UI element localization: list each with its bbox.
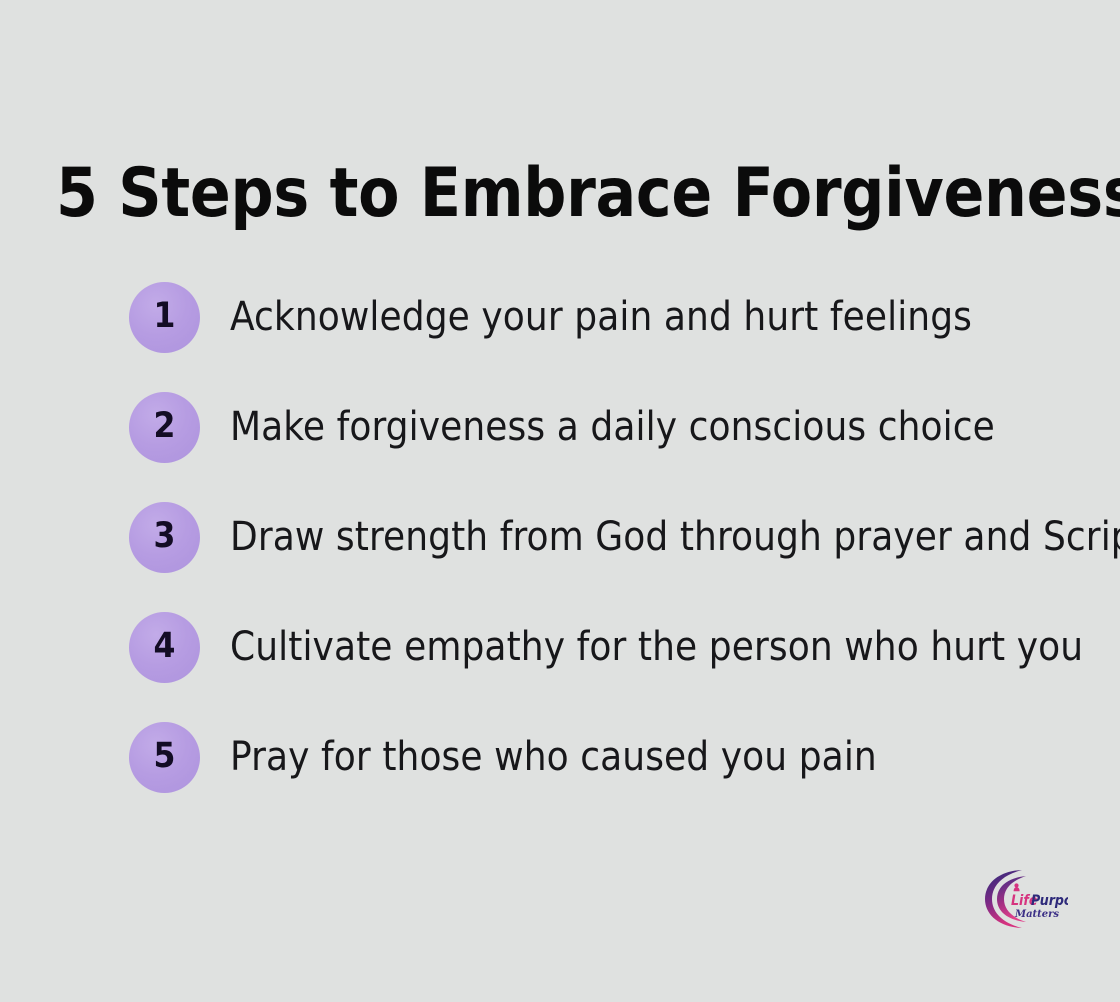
step-text-label: Acknowledge your pain and hurt feelings xyxy=(230,292,972,342)
list-item: 3 Draw strength from God through prayer … xyxy=(0,502,1120,572)
logo-person-body-icon xyxy=(1014,887,1020,891)
step-number-label: 2 xyxy=(154,409,176,444)
step-badge-4: 4 xyxy=(129,612,200,683)
step-badge-3: 3 xyxy=(129,502,200,573)
infographic-canvas: 5 Steps to Embrace Forgiveness 1 Acknowl… xyxy=(0,0,1120,1002)
logo-word-purpose: Purpose xyxy=(1031,893,1068,909)
list-item: 2 Make forgiveness a daily conscious cho… xyxy=(0,392,1120,462)
step-badge-2: 2 xyxy=(129,392,200,463)
brand-logo: Life Purpose Matters xyxy=(978,866,1068,932)
step-number-label: 5 xyxy=(154,739,176,774)
page-title: 5 Steps to Embrace Forgiveness xyxy=(56,154,1051,234)
list-item: 5 Pray for those who caused you pain xyxy=(0,722,1120,792)
step-text-label: Draw strength from God through prayer an… xyxy=(230,512,1120,562)
logo-word-matters: Matters xyxy=(1014,909,1059,920)
step-badge-5: 5 xyxy=(129,722,200,793)
logo-person-head-icon xyxy=(1014,883,1018,887)
step-number-label: 3 xyxy=(154,519,176,554)
step-number-label: 4 xyxy=(154,629,176,664)
list-item: 1 Acknowledge your pain and hurt feeling… xyxy=(0,282,1120,352)
step-number-label: 1 xyxy=(154,299,176,334)
list-item: 4 Cultivate empathy for the person who h… xyxy=(0,612,1120,682)
steps-list: 1 Acknowledge your pain and hurt feeling… xyxy=(0,282,1120,792)
step-text-label: Cultivate empathy for the person who hur… xyxy=(230,622,1083,672)
step-text-label: Make forgiveness a daily conscious choic… xyxy=(230,402,995,452)
step-badge-1: 1 xyxy=(129,282,200,353)
step-text-label: Pray for those who caused you pain xyxy=(230,732,877,782)
